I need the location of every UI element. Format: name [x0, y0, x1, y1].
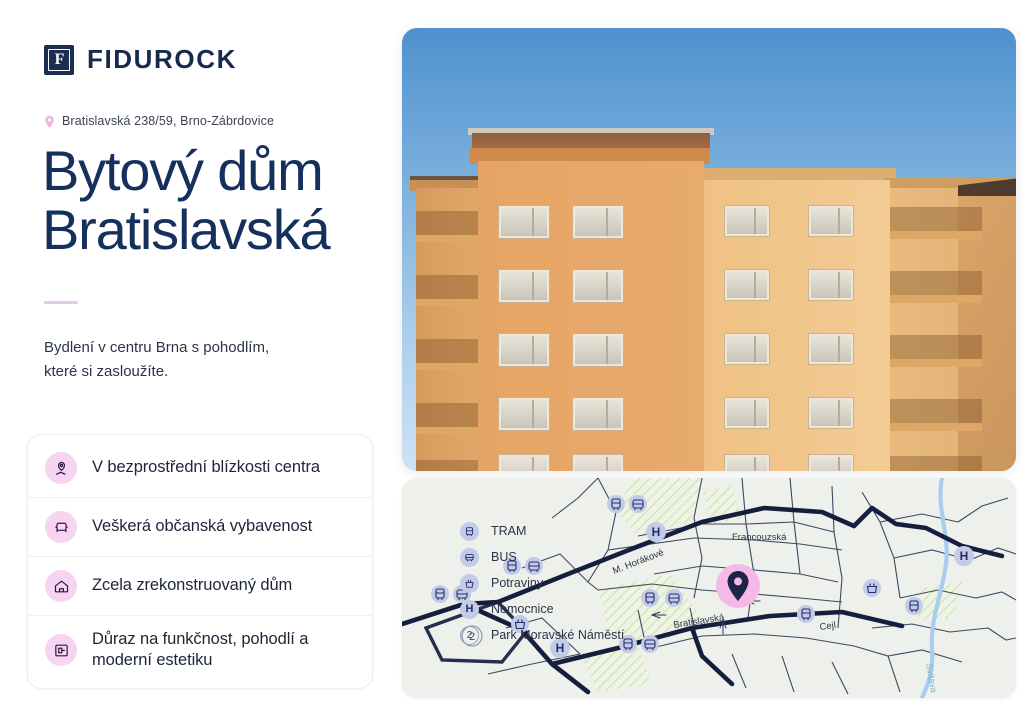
map-pin-icon [45, 452, 77, 484]
balcony-slab [890, 295, 982, 303]
page-title-line1: Bytový dům [42, 139, 323, 202]
window [498, 269, 550, 303]
balcony-slab [416, 299, 478, 306]
brand-logo[interactable]: F FIDUROCK [44, 44, 237, 75]
legend-item-park: 2 Park Moravské Náměstí [460, 622, 624, 648]
balcony-shadow [890, 335, 982, 359]
balcony-slab [416, 235, 478, 242]
right-panel: 2 M. Horákové Francouzská Bratislavská C… [392, 0, 1024, 723]
legend-item-groceries: Potraviny [460, 570, 624, 596]
balcony-slab [416, 363, 478, 370]
features-card: V bezprostřední blízkosti centra Veškerá… [27, 434, 373, 689]
poster-root: F FIDUROCK Bratislavská 238/59, Brno-Záb… [0, 0, 1024, 723]
tram-icon [460, 522, 479, 541]
bus-icon [460, 548, 479, 567]
brand-name: FIDUROCK [87, 44, 237, 75]
window [724, 397, 770, 429]
window [724, 205, 770, 237]
park-number-icon: 2 [460, 626, 479, 645]
svg-text:H: H [652, 525, 661, 539]
page-title-line2: Bratislavská [42, 200, 382, 259]
balcony-shadow [890, 271, 982, 295]
window [724, 454, 770, 471]
window [724, 269, 770, 301]
feature-label: V bezprostřední blízkosti centra [92, 457, 320, 478]
window [498, 333, 550, 367]
window [808, 397, 854, 429]
legend-item-bus: BUS [460, 544, 624, 570]
hospital-icon: H [460, 600, 479, 619]
house-icon [45, 570, 77, 602]
window [572, 269, 624, 303]
window [808, 205, 854, 237]
street-label-francouzska: Francouzská [732, 532, 787, 543]
feature-item-amenities[interactable]: Veškerá občanská vybavenost [28, 498, 372, 557]
window [498, 454, 550, 471]
street-label-cejl: Cejl [819, 620, 837, 633]
subtitle-line1: Bydlení v centru Brna s pohodlím, [44, 339, 269, 356]
legend-item-tram: TRAM [460, 518, 624, 544]
subtitle: Bydlení v centru Brna s pohodlím, které … [44, 336, 364, 385]
balcony-slab [416, 427, 478, 434]
feature-item-design[interactable]: Důraz na funkčnost, pohodlí a moderní es… [28, 616, 372, 684]
address-text: Bratislavská 238/59, Brno-Zábrdovice [62, 114, 274, 128]
map-legend: TRAM BUS Potraviny H Nemocnice [460, 518, 624, 648]
feature-item-renovated[interactable]: Zcela zrekonstruovaný dům [28, 557, 372, 616]
subtitle-line2: které si zasloužíte. [44, 363, 168, 380]
map-pin-icon [44, 115, 55, 128]
location-map[interactable]: 2 M. Horákové Francouzská Bratislavská C… [402, 478, 1016, 698]
balcony-shadow [890, 207, 982, 231]
window [808, 333, 854, 365]
left-panel: F FIDUROCK Bratislavská 238/59, Brno-Záb… [0, 0, 392, 723]
balcony-slab [890, 359, 982, 367]
building-photo [402, 28, 1016, 471]
legend-label: TRAM [491, 524, 526, 538]
window [572, 454, 624, 471]
page-title: Bytový dům Bratislavská [42, 141, 382, 260]
armchair-icon [45, 511, 77, 543]
window [498, 397, 550, 431]
legend-label: Park Moravské Náměstí [491, 628, 624, 642]
basket-icon [460, 574, 479, 593]
window [808, 454, 854, 471]
title-divider [44, 301, 78, 304]
window [498, 205, 550, 239]
balcony-shadow [416, 339, 478, 363]
feature-label: Zcela zrekonstruovaný dům [92, 575, 292, 596]
legend-label: BUS [491, 550, 517, 564]
balcony-shadow [416, 275, 478, 299]
svg-text:H: H [960, 549, 969, 563]
balcony-shadow [416, 403, 478, 427]
window [572, 397, 624, 431]
legend-label: Potraviny [491, 576, 543, 590]
feature-label: Veškerá občanská vybavenost [92, 516, 312, 537]
feature-label: Důraz na funkčnost, pohodlí a moderní es… [92, 629, 354, 671]
legend-item-hospital: H Nemocnice [460, 596, 624, 622]
window [572, 205, 624, 239]
balcony-slab [890, 423, 982, 431]
fidurock-mark-letter: F [48, 49, 70, 71]
balcony-shadow [890, 456, 982, 471]
balcony-shadow [890, 399, 982, 423]
balcony-shadow [416, 211, 478, 235]
fidurock-mark-icon: F [44, 45, 74, 75]
legend-label: Nemocnice [491, 602, 554, 616]
balcony-shadow [416, 460, 478, 471]
balcony-slab [890, 231, 982, 239]
window [724, 333, 770, 365]
feature-item-location[interactable]: V bezprostřední blízkosti centra [28, 439, 372, 498]
window [808, 269, 854, 301]
blueprint-icon [45, 634, 77, 666]
main-location-marker [716, 564, 760, 608]
window [572, 333, 624, 367]
address: Bratislavská 238/59, Brno-Zábrdovice [44, 114, 274, 128]
